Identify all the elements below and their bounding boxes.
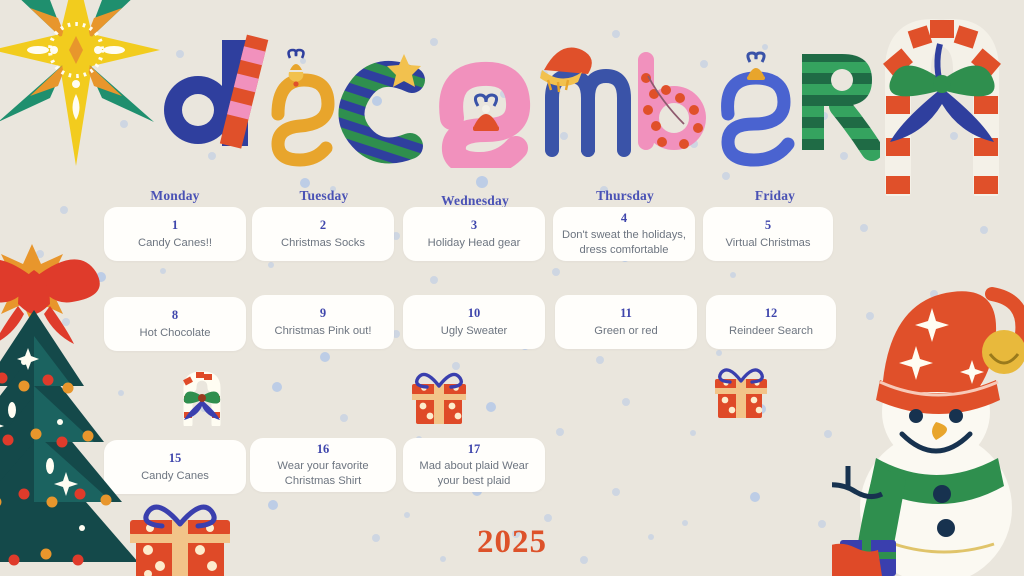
day-event: Hot Chocolate [140, 326, 211, 340]
day-card[interactable]: 15 Candy Canes [104, 440, 246, 494]
day-event: Candy Canes [141, 469, 209, 483]
day-number: 8 [172, 308, 178, 322]
day-event: Christmas Socks [281, 236, 365, 250]
snow-dot [340, 414, 348, 422]
day-event: Ugly Sweater [441, 324, 508, 338]
snow-dot [884, 486, 892, 494]
dayname-thursday: Thursday [554, 188, 696, 204]
day-card[interactable]: 3 Holiday Head gear [403, 207, 545, 261]
day-number: 3 [471, 218, 477, 232]
day-number: 10 [468, 306, 481, 320]
snow-dot [120, 120, 128, 128]
snow-dot [722, 172, 730, 180]
day-number: 5 [765, 218, 771, 232]
day-event: Virtual Christmas [726, 236, 811, 250]
letter-m-blue [540, 48, 624, 151]
day-event: Don't sweat the holidays, dress comforta… [561, 228, 687, 257]
snow-dot [930, 290, 938, 298]
snow-dot [320, 352, 330, 362]
snow-dot [96, 272, 106, 282]
year-label: 2025 [0, 524, 1024, 561]
day-number: 4 [621, 211, 627, 225]
letter-R-green [802, 54, 872, 150]
day-card[interactable]: 17 Mad about plaid Wear your best plaid [403, 438, 545, 492]
day-card[interactable]: 10 Ugly Sweater [403, 295, 545, 349]
snow-dot [268, 262, 274, 268]
snow-dot [946, 510, 954, 518]
month-title [150, 18, 880, 168]
snow-dot [552, 268, 560, 276]
snow-dot [556, 428, 564, 436]
dayname-tuesday: Tuesday [253, 188, 395, 204]
snow-dot [612, 488, 620, 496]
day-number: 9 [320, 306, 326, 320]
snow-dot [750, 492, 760, 502]
day-card[interactable]: 12 Reindeer Search [706, 295, 836, 349]
day-event: Holiday Head gear [428, 236, 521, 250]
snow-dot [622, 398, 630, 406]
snow-dot [690, 430, 696, 436]
day-number: 15 [169, 451, 182, 465]
snow-dot [56, 34, 66, 44]
snow-dot [894, 392, 902, 400]
snow-dot [36, 250, 44, 258]
day-event: Christmas Pink out! [275, 324, 372, 338]
day-event: Mad about plaid Wear your best plaid [411, 459, 537, 488]
snow-dot [44, 372, 52, 380]
snow-dot [118, 390, 124, 396]
snow-dot [404, 512, 410, 518]
snow-dot [430, 276, 438, 284]
gift-box-decoration-middle-left [408, 368, 470, 426]
calendar-poster: Monday Tuesday Wednesday Thursday Friday… [0, 0, 1024, 576]
day-number: 12 [765, 306, 778, 320]
dayname-friday: Friday [704, 188, 846, 204]
snow-dot [452, 362, 460, 370]
day-number: 17 [468, 442, 481, 456]
snow-dot [730, 272, 736, 278]
letter-c-striped [351, 54, 421, 151]
snow-dot [824, 430, 832, 438]
snow-dot [268, 500, 278, 510]
day-event: Wear your favorite Christmas Shirt [258, 459, 388, 488]
day-event: Green or red [594, 324, 657, 338]
snow-dot [980, 226, 988, 234]
day-number: 1 [172, 218, 178, 232]
day-card[interactable]: 16 Wear your favorite Christmas Shirt [250, 438, 396, 492]
snow-dot [950, 132, 958, 140]
day-card[interactable]: 9 Christmas Pink out! [252, 295, 394, 349]
star-decoration [0, 0, 166, 168]
day-event: Candy Canes!! [138, 236, 212, 250]
snow-dot [860, 224, 868, 232]
day-card[interactable]: 2 Christmas Socks [252, 207, 394, 261]
snow-dot [60, 206, 68, 214]
day-card[interactable]: 1 Candy Canes!! [104, 207, 246, 261]
dayname-monday: Monday [104, 188, 246, 204]
snow-dot [40, 452, 48, 460]
snow-dot [596, 356, 604, 364]
candy-cane-decoration-small [166, 364, 238, 426]
day-event: Reindeer Search [729, 324, 813, 338]
letter-e-blue [728, 53, 788, 160]
snow-dot [200, 404, 208, 412]
day-number: 16 [317, 442, 330, 456]
letter-b-pink [638, 52, 706, 150]
december-lettering [150, 18, 880, 168]
snow-dot [62, 318, 70, 326]
day-name-row: Monday Tuesday Wednesday Thursday Friday [104, 180, 924, 200]
snow-dot [160, 268, 166, 274]
day-number: 11 [620, 306, 632, 320]
letter-d [164, 35, 268, 149]
day-card[interactable]: 11 Green or red [555, 295, 697, 349]
day-card[interactable]: 8 Hot Chocolate [104, 297, 246, 351]
snow-dot [866, 312, 874, 320]
day-card[interactable]: 4 Don't sweat the holidays, dress comfor… [553, 207, 695, 261]
letter-e-pink [451, 74, 518, 164]
snow-dot [486, 402, 496, 412]
snow-dot [272, 382, 282, 392]
snow-dot [956, 420, 964, 428]
snow-dot [544, 514, 552, 522]
snow-dot [756, 404, 766, 414]
day-card[interactable]: 5 Virtual Christmas [703, 207, 833, 261]
letter-e-gold [278, 50, 328, 160]
day-number: 2 [320, 218, 326, 232]
snow-dot [716, 350, 722, 356]
